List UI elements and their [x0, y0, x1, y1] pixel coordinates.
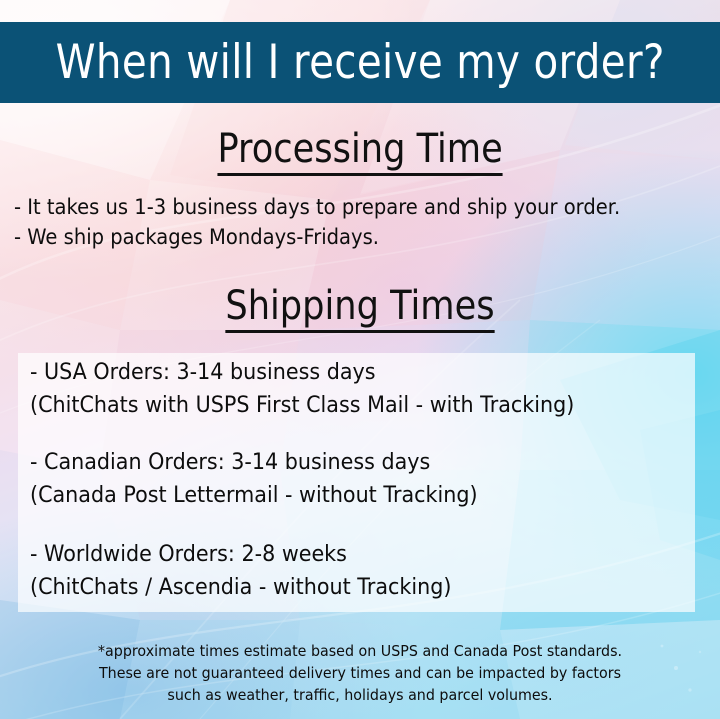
faq-shipping-poster: When will I receive my order? Processing… [0, 0, 720, 719]
shipping-group-canada: - Canadian Orders: 3-14 business days (C… [30, 447, 690, 512]
disclaimer-line: *approximate times estimate based on USP… [18, 640, 702, 662]
shipping-group-worldwide: - Worldwide Orders: 2-8 weeks (ChitChats… [30, 539, 690, 604]
disclaimer: *approximate times estimate based on USP… [0, 640, 720, 706]
page-title: When will I receive my order? [55, 35, 664, 90]
section-heading-shipping-times: Shipping Times [0, 283, 720, 333]
shipping-group-usa-title: - USA Orders: 3-14 business days [30, 357, 650, 389]
shipping-group-worldwide-title: - Worldwide Orders: 2-8 weeks [30, 539, 650, 571]
section-heading-shipping-times-label: Shipping Times [225, 283, 494, 333]
processing-time-line: - It takes us 1-3 business days to prepa… [14, 192, 665, 222]
disclaimer-line: such as weather, traffic, holidays and p… [18, 684, 702, 706]
title-banner: When will I receive my order? [0, 22, 720, 103]
shipping-group-worldwide-carrier: (ChitChats / Ascendia - without Tracking… [30, 572, 650, 604]
shipping-times-panel: - USA Orders: 3-14 business days (ChitCh… [18, 353, 695, 612]
processing-time-line: - We ship packages Mondays-Fridays. [14, 222, 665, 252]
disclaimer-line: These are not guaranteed delivery times … [18, 662, 702, 684]
shipping-group-usa: - USA Orders: 3-14 business days (ChitCh… [30, 357, 690, 422]
shipping-group-usa-carrier: (ChitChats with USPS First Class Mail - … [30, 390, 650, 422]
shipping-group-canada-title: - Canadian Orders: 3-14 business days [30, 447, 650, 479]
shipping-group-canada-carrier: (Canada Post Lettermail - without Tracki… [30, 480, 650, 512]
section-heading-processing-time: Processing Time [0, 126, 720, 176]
processing-time-list: - It takes us 1-3 business days to prepa… [14, 192, 714, 252]
section-heading-processing-time-label: Processing Time [217, 126, 502, 176]
